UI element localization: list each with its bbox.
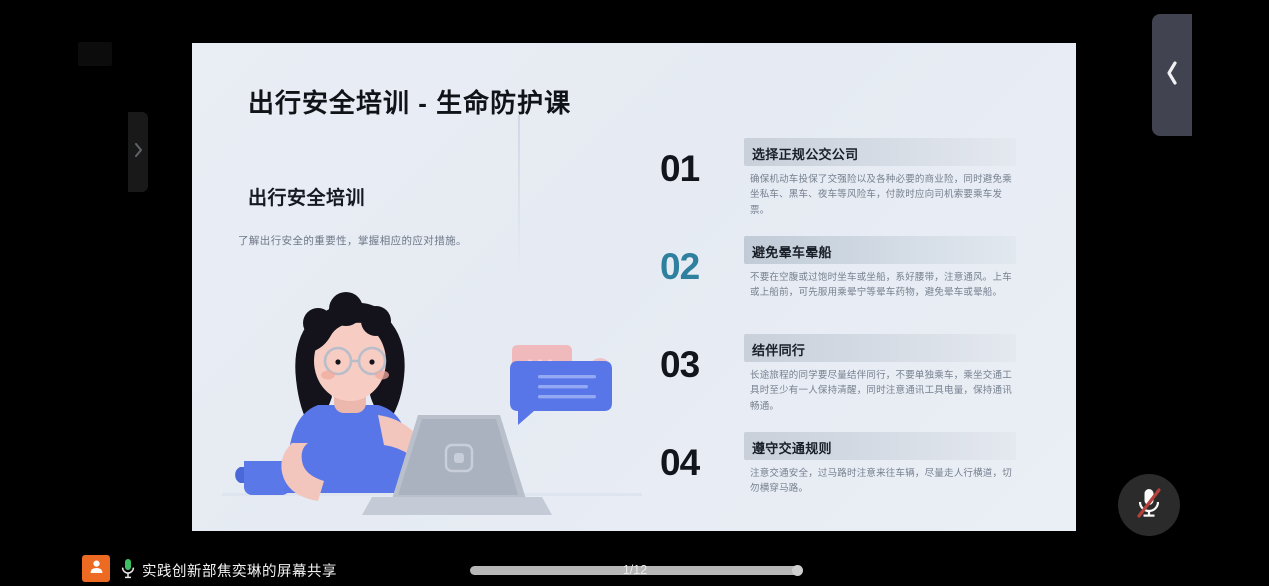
list-item: 04 遵守交通规则 注意交通安全，过马路时注意来往车辆，尽量走人行横道，切勿横穿… [660, 422, 1038, 520]
chevron-left-icon [1164, 59, 1180, 92]
item-number: 04 [660, 444, 726, 481]
item-heading-bar: 选择正规公交公司 [744, 138, 1016, 166]
microphone-muted-icon [1134, 487, 1164, 524]
slide-subtitle: 出行安全培训 [248, 183, 365, 210]
shared-slide[interactable]: 出行安全培训 - 生命防护课 出行安全培训 了解出行安全的重要性，掌握相应的应对… [192, 43, 1076, 531]
safety-tips-list: 01 选择正规公交公司 确保机动车投保了交强险以及各种必要的商业险，同时避免乘坐… [660, 128, 1038, 520]
list-item: 01 选择正规公交公司 确保机动车投保了交强险以及各种必要的商业险，同时避免乘坐… [660, 128, 1038, 226]
item-heading: 结伴同行 [752, 340, 805, 359]
collapse-right-panel-tab[interactable] [1152, 14, 1192, 136]
item-body: 长途旅程的同学要尽量结伴同行，不要单独乘车，乘坐交通工具时至少有一人保持清醒，同… [750, 368, 1018, 414]
slide-progress-slider[interactable]: 1/12 [470, 566, 800, 575]
slide-title: 出行安全培训 - 生命防护课 [248, 83, 571, 120]
item-heading-bar: 结伴同行 [744, 334, 1016, 362]
illustration-woman-at-laptop [222, 265, 642, 523]
item-heading: 遵守交通规则 [752, 438, 832, 457]
person-icon [89, 559, 104, 579]
list-item: 03 结伴同行 长途旅程的同学要尽量结伴同行，不要单独乘车，乘坐交通工具时至少有… [660, 324, 1038, 422]
chevron-right-icon [134, 143, 143, 162]
item-heading-bar: 避免晕车晕船 [744, 236, 1016, 264]
item-number: 01 [660, 150, 726, 187]
avatar [82, 555, 110, 582]
item-number: 03 [660, 346, 726, 383]
item-body: 注意交通安全，过马路时注意来往车辆，尽量走人行横道，切勿横穿马路。 [750, 466, 1018, 497]
item-body: 不要在空腹或过饱时坐车或坐船，系好腰带，注意通风。上车或上船前，可先服用乘晕宁等… [750, 270, 1018, 301]
microphone-on-icon [120, 558, 136, 579]
item-body: 确保机动车投保了交强险以及各种必要的商业险，同时避免乘坐私车、黑车、夜车等风险车… [750, 172, 1018, 218]
list-item: 02 避免晕车晕船 不要在空腹或过饱时坐车或坐船，系好腰带，注意通风。上车或上船… [660, 226, 1038, 324]
item-number: 02 [660, 248, 726, 285]
page-indicator: 1/12 [470, 563, 800, 577]
expand-left-panel-tab[interactable] [128, 112, 148, 192]
screen-share-label: 实践创新部焦奕琳的屏幕共享 [142, 560, 337, 581]
mute-toggle-button[interactable] [1118, 474, 1180, 536]
item-heading-bar: 遵守交通规则 [744, 432, 1016, 460]
slide-description: 了解出行安全的重要性，掌握相应的应对措施。 [238, 233, 467, 248]
item-heading: 选择正规公交公司 [752, 144, 858, 163]
item-heading: 避免晕车晕船 [752, 242, 832, 261]
vertical-divider [518, 115, 520, 283]
screen-share-viewer: 出行安全培训 - 生命防护课 出行安全培训 了解出行安全的重要性，掌握相应的应对… [0, 0, 1269, 586]
top-left-artifact [78, 42, 112, 66]
